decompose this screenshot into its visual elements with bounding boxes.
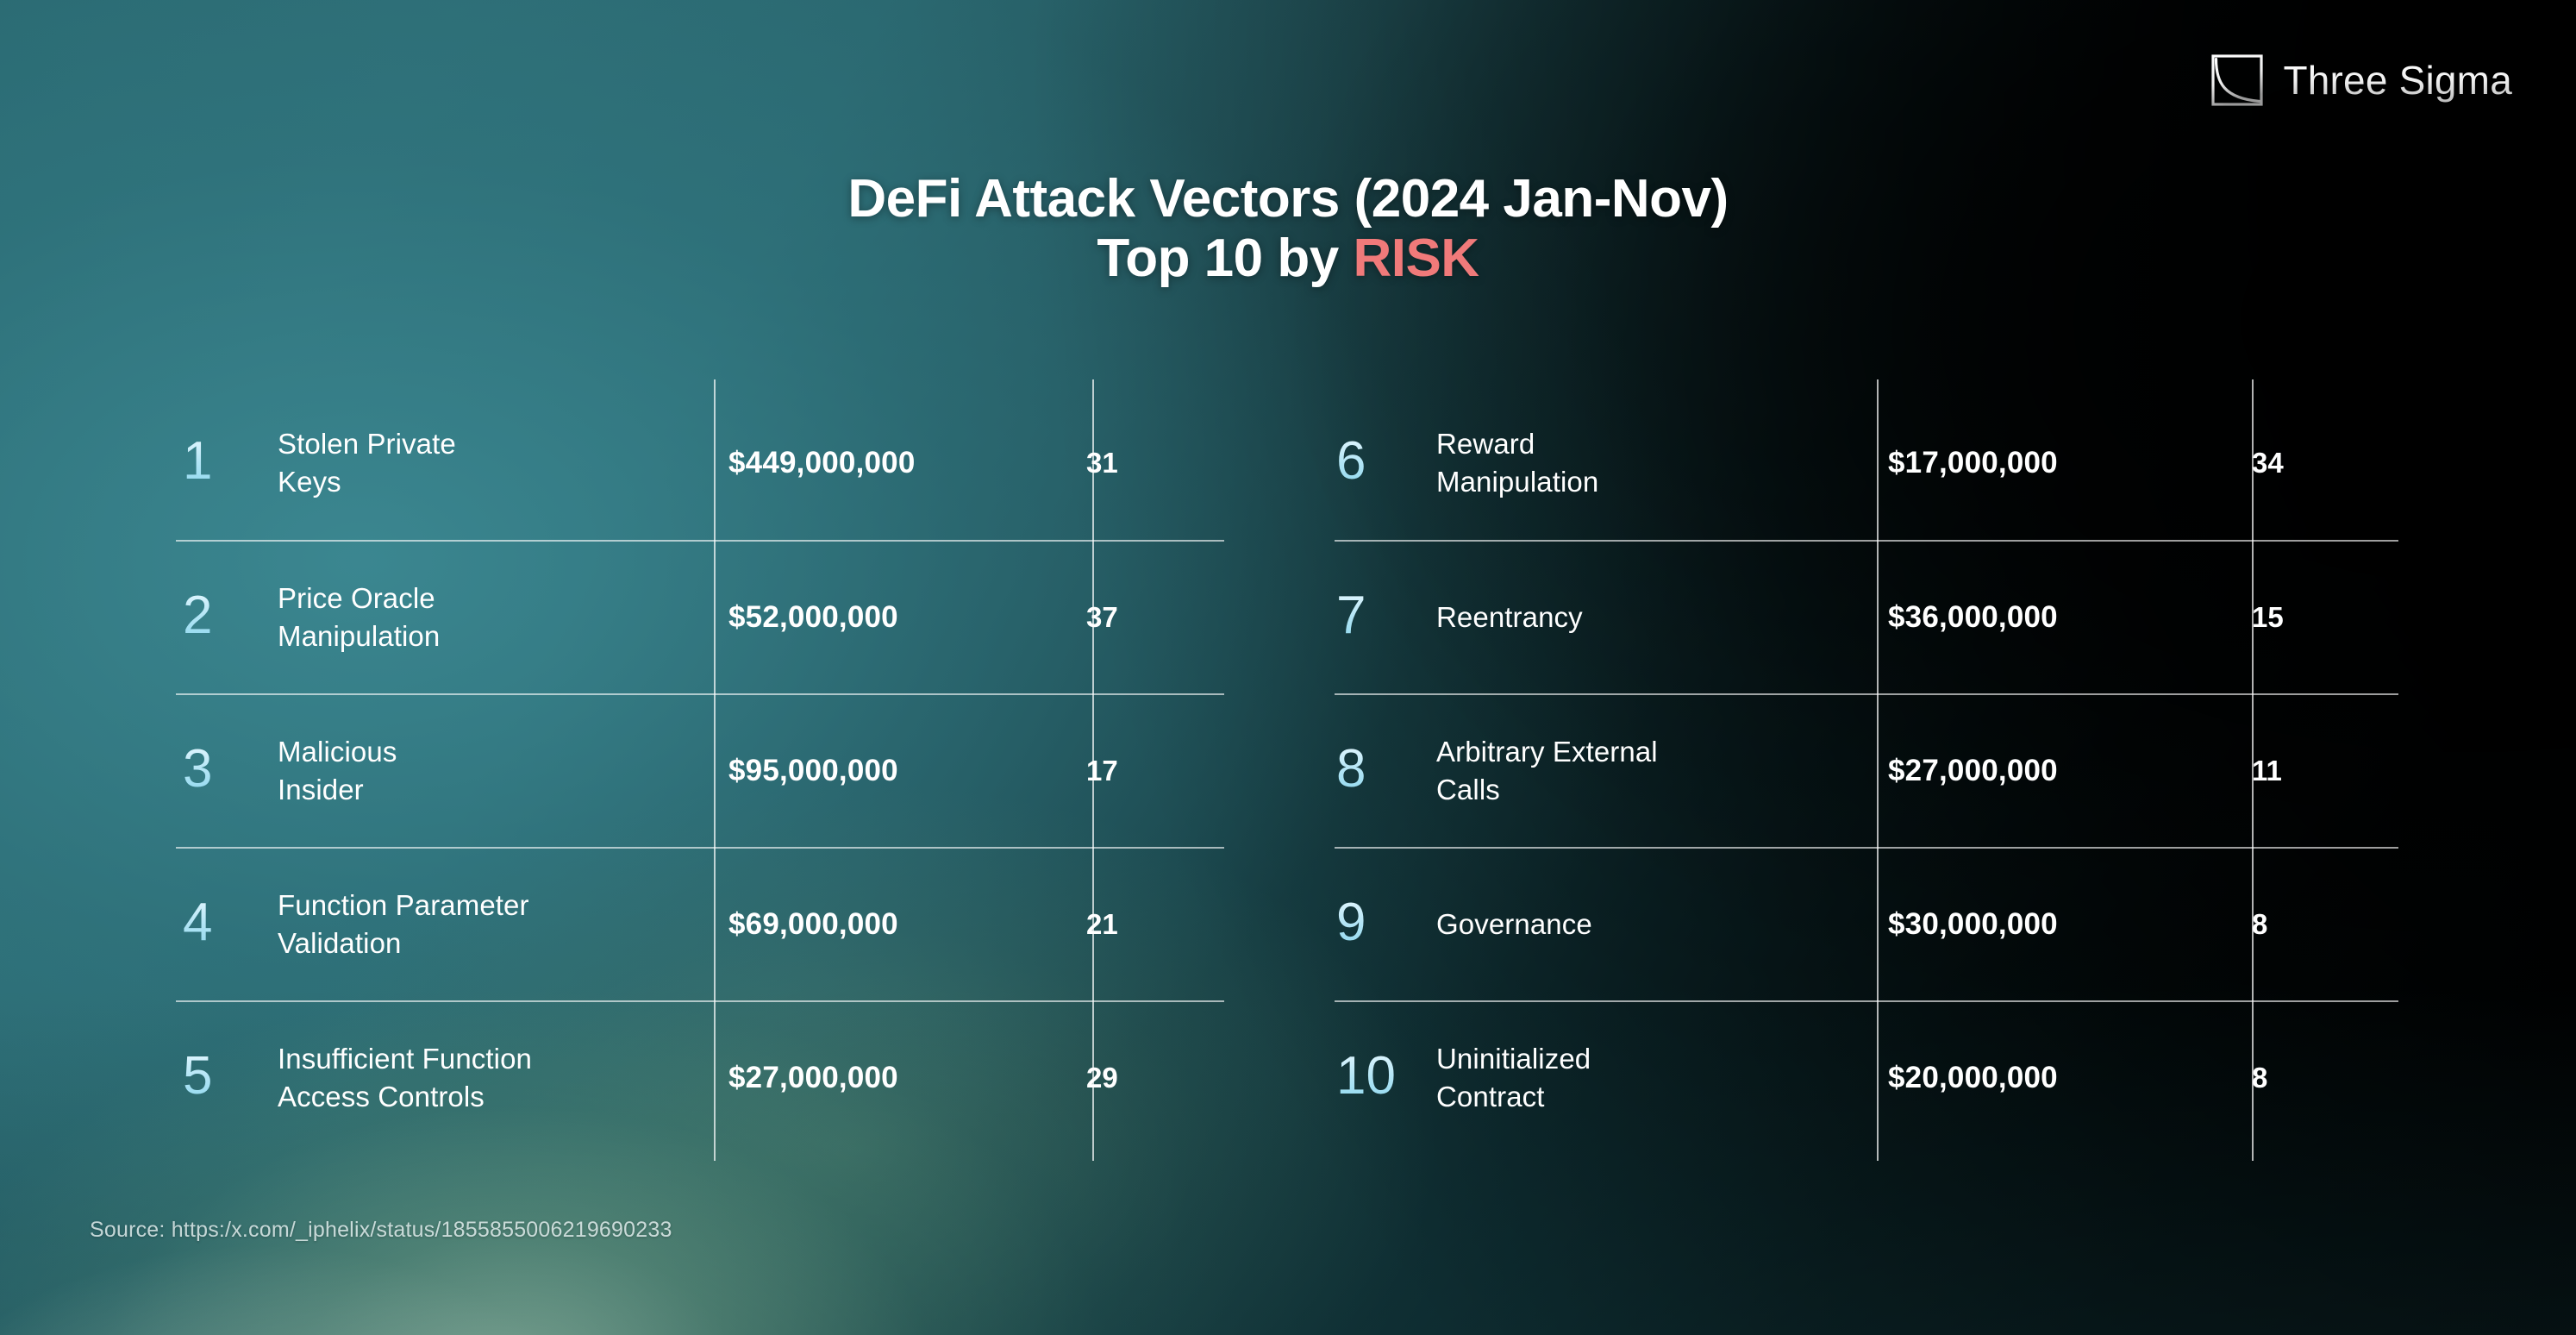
row-rank: 8 [1335,743,1436,799]
row-count: 37 [1052,601,1224,634]
table-row: 9 Governance $30,000,000 8 [1335,847,2398,1000]
row-label: Governance [1436,906,1847,943]
row-label-line-1: Stolen Private [278,425,672,463]
row-label-line-1: Arbitrary External [1436,733,1831,771]
row-rank: 7 [1335,589,1436,646]
title-risk-accent: RISK [1353,229,1479,288]
row-label: Arbitrary External Calls [1436,733,1847,808]
row-label-line-1: Governance [1436,906,1831,943]
table-row: 1 Stolen Private Keys $449,000,000 31 [176,386,1224,540]
row-label: Reward Manipulation [1436,425,1847,500]
table-row: 5 Insufficient Function Access Controls … [176,1000,1224,1154]
row-label-line-1: Insufficient Function [278,1040,672,1078]
row-label: Uninitialized Contract [1436,1040,1847,1115]
brand-logo: Three Sigma [2210,53,2512,107]
row-count: 11 [2216,755,2398,787]
row-label-line-2: Insider [278,771,672,809]
row-label-line-1: Reward [1436,425,1831,463]
three-sigma-decay-curve-logo-icon [2210,53,2264,107]
row-label-line-2: Keys [278,463,672,501]
row-label: Stolen Private Keys [278,425,687,500]
row-label-line-2: Calls [1436,771,1831,809]
row-rank: 2 [176,589,278,646]
row-label: Price Oracle Manipulation [278,580,687,655]
row-amount: $27,000,000 [1847,754,2216,788]
row-count: 34 [2216,447,2398,479]
row-amount: $36,000,000 [1847,600,2216,635]
row-count: 8 [2216,908,2398,941]
row-count: 8 [2216,1062,2398,1094]
row-label-line-2: Contract [1436,1078,1831,1116]
table-row: 6 Reward Manipulation $17,000,000 34 [1335,386,2398,540]
row-label-line-2: Manipulation [278,617,672,655]
row-count: 31 [1052,447,1224,479]
table-row: 4 Function Parameter Validation $69,000,… [176,847,1224,1000]
row-amount: $20,000,000 [1847,1061,2216,1095]
source-attribution: Source: https:/x.com/_iphelix/status/185… [90,1218,672,1243]
row-rank: 9 [1335,896,1436,953]
row-amount: $30,000,000 [1847,907,2216,942]
row-label-line-1: Malicious [278,733,672,771]
row-rank: 3 [176,743,278,799]
table-left-ranks-1-5: 1 Stolen Private Keys $449,000,000 31 2 … [176,386,1224,1154]
row-amount: $52,000,000 [687,600,1052,635]
table-row: 7 Reentrancy $36,000,000 15 [1335,540,2398,693]
row-label-line-2: Validation [278,924,672,962]
row-label: Malicious Insider [278,733,687,808]
row-label: Reentrancy [1436,599,1847,636]
row-rank: 4 [176,896,278,953]
row-label-line-2: Access Controls [278,1078,672,1116]
row-count: 21 [1052,908,1224,941]
title-line-2-prefix: Top 10 by [1097,229,1353,288]
row-label: Function Parameter Validation [278,887,687,962]
row-count: 15 [2216,601,2398,634]
row-label-line-1: Uninitialized [1436,1040,1831,1078]
row-amount: $449,000,000 [687,446,1052,480]
row-label-line-2: Manipulation [1436,463,1831,501]
row-count: 29 [1052,1062,1224,1094]
table-row: 10 Uninitialized Contract $20,000,000 8 [1335,1000,2398,1154]
table-row: 2 Price Oracle Manipulation $52,000,000 … [176,540,1224,693]
row-label-line-1: Reentrancy [1436,599,1831,636]
table-row: 8 Arbitrary External Calls $27,000,000 1… [1335,693,2398,847]
page-title: DeFi Attack Vectors (2024 Jan-Nov) Top 1… [0,169,2576,289]
row-amount: $17,000,000 [1847,446,2216,480]
row-label-line-1: Price Oracle [278,580,672,617]
row-label: Insufficient Function Access Controls [278,1040,687,1115]
row-rank: 5 [176,1050,278,1106]
row-count: 17 [1052,755,1224,787]
brand-name: Three Sigma [2283,57,2512,103]
row-rank: 6 [1335,435,1436,492]
row-amount: $27,000,000 [687,1061,1052,1095]
row-rank: 1 [176,435,278,492]
table-row: 3 Malicious Insider $95,000,000 17 [176,693,1224,847]
title-line-1: DeFi Attack Vectors (2024 Jan-Nov) [0,169,2576,229]
row-amount: $69,000,000 [687,907,1052,942]
title-line-2: Top 10 by RISK [0,229,2576,288]
table-right-ranks-6-10: 6 Reward Manipulation $17,000,000 34 7 R… [1335,386,2398,1154]
infographic-canvas: Three Sigma DeFi Attack Vectors (2024 Ja… [0,0,2576,1335]
row-rank: 10 [1335,1050,1436,1106]
row-amount: $95,000,000 [687,754,1052,788]
row-label-line-1: Function Parameter [278,887,672,924]
